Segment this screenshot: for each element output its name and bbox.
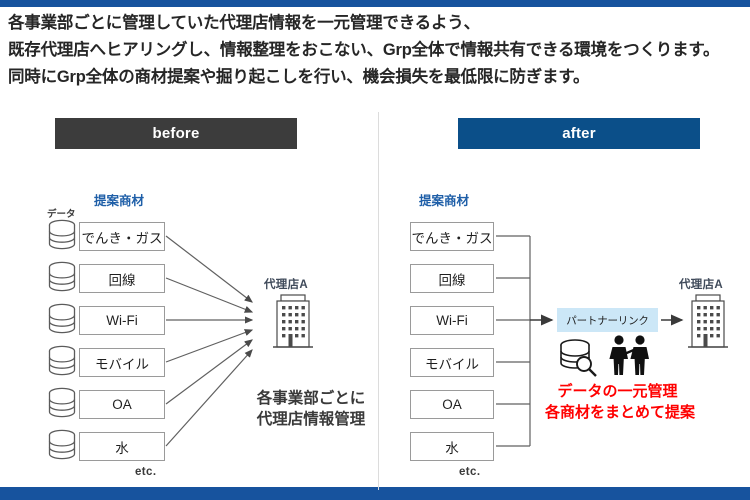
magnifier-icon <box>577 357 596 376</box>
before-product-box-5: 水 <box>79 432 165 461</box>
before-product-box-3: モバイル <box>79 348 165 377</box>
database-icon-5 <box>50 430 75 458</box>
after-note-line-2: 各商材をまとめて提案 <box>545 402 690 423</box>
arrow-1 <box>166 278 252 312</box>
after-note-line-1: データの一元管理 <box>545 381 690 402</box>
after-product-box-1: 回線 <box>410 264 494 293</box>
after-bus-connectors <box>496 236 552 446</box>
after-note: データの一元管理 各商材をまとめて提案 <box>545 381 690 423</box>
before-etc-label: etc. <box>135 466 156 478</box>
arrow-3 <box>166 330 252 362</box>
database-search-icon <box>561 340 596 376</box>
before-note: 各事業部ごとに 代理店情報管理 <box>236 388 386 430</box>
bottom-accent-bar <box>0 487 750 500</box>
lead-line-1: 各事業部ごとに管理していた代理店情報を一元管理できるよう、 <box>8 10 746 37</box>
before-agency-label: 代理店A <box>264 276 308 292</box>
database-icon-3 <box>50 346 75 374</box>
after-product-box-3: モバイル <box>410 348 494 377</box>
database-icon-1 <box>50 262 75 290</box>
after-etc-label: etc. <box>459 466 480 478</box>
after-product-box-2: Wi-Fi <box>410 306 494 335</box>
before-data-label: データ <box>47 206 76 220</box>
panel-header-before: before <box>55 118 297 149</box>
before-section-label: 提案商材 <box>94 190 144 209</box>
after-section-label: 提案商材 <box>419 190 469 209</box>
before-product-box-1: 回線 <box>79 264 165 293</box>
after-product-box-0: でんき・ガス <box>410 222 494 251</box>
after-product-box-4: OA <box>410 390 494 419</box>
lead-paragraph: 各事業部ごとに管理していた代理店情報を一元管理できるよう、 既存代理店へヒアリン… <box>8 10 746 91</box>
database-icon-4 <box>50 388 75 416</box>
database-icon-0 <box>50 220 75 248</box>
partners-people-icon <box>609 335 649 375</box>
panel-divider <box>378 112 379 490</box>
before-note-line-2: 代理店情報管理 <box>236 409 386 430</box>
before-building-icon <box>273 295 313 347</box>
before-product-box-4: OA <box>79 390 165 419</box>
database-icon-2 <box>50 304 75 332</box>
panel-header-after: after <box>458 118 700 149</box>
after-building-icon <box>688 295 728 347</box>
before-note-line-1: 各事業部ごとに <box>236 388 386 409</box>
top-accent-bar <box>0 0 750 7</box>
lead-line-2: 既存代理店へヒアリングし、情報整理をおこない、Grp全体で情報共有できる環境をつ… <box>8 37 746 64</box>
partner-link-box: パートナーリンク <box>557 308 658 332</box>
before-product-box-0: でんき・ガス <box>79 222 165 251</box>
after-agency-label: 代理店A <box>679 276 723 292</box>
before-product-box-2: Wi-Fi <box>79 306 165 335</box>
before-database-icons <box>50 220 75 458</box>
lead-line-3: 同時にGrp全体の商材提案や掘り起こしを行い、機会損失を最低限に防ぎます。 <box>8 64 746 91</box>
arrow-0 <box>166 236 252 302</box>
after-product-box-5: 水 <box>410 432 494 461</box>
